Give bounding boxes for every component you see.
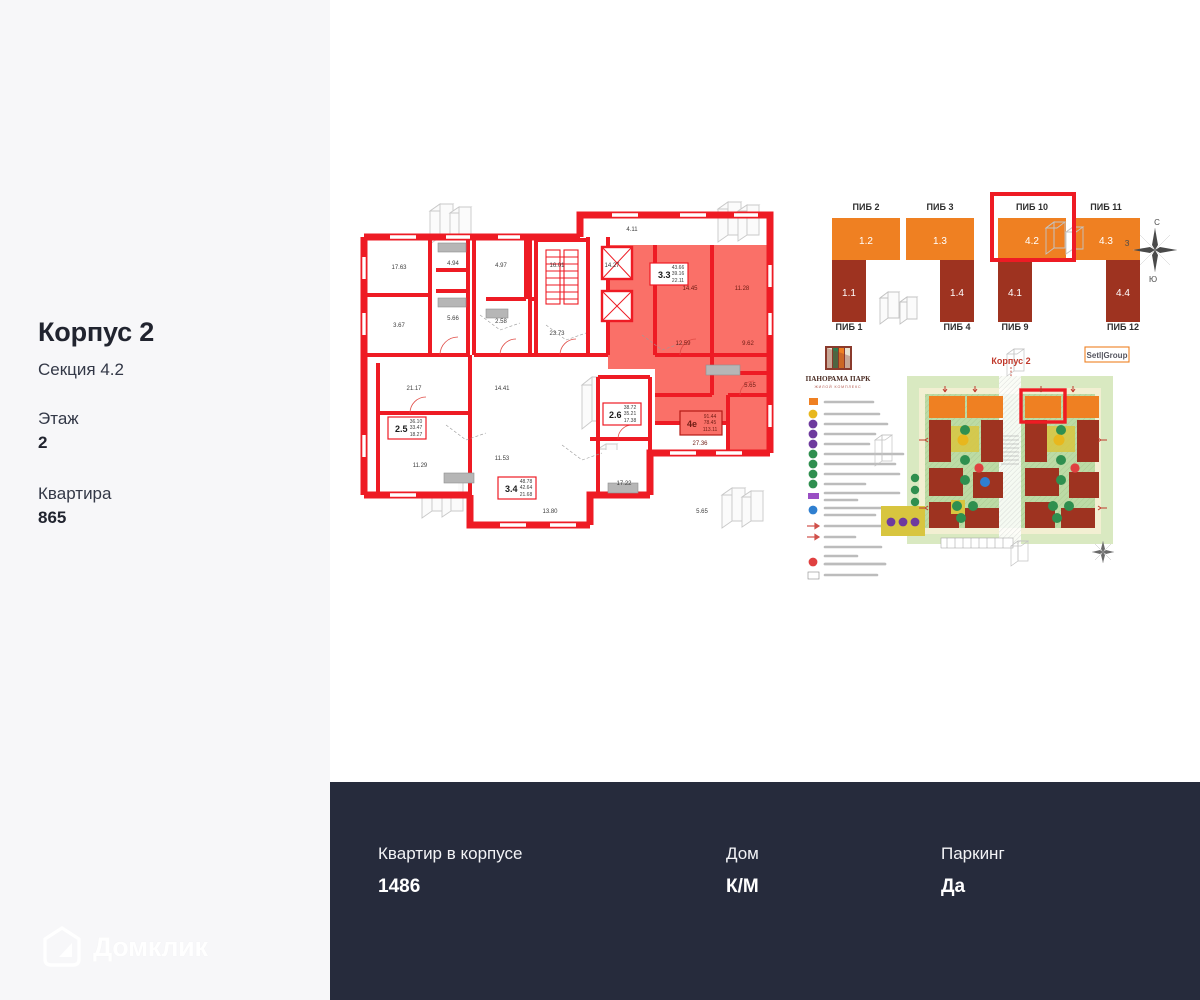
section-subtitle: Секция 4.2: [38, 360, 308, 380]
section-left-block: ПИБ 2 ПИБ 3 1.2 1.3 1.1 1.4 ПИБ 1 ПИБ 4: [832, 202, 974, 330]
footer-value-parking: Да: [941, 876, 1141, 898]
apartment-label: Квартира: [38, 483, 308, 506]
compass-west-label: З: [1125, 239, 1130, 248]
section-bottom-label-pib12: ПИБ 12: [1107, 322, 1139, 330]
svg-text:35.21: 35.21: [624, 411, 637, 417]
domclick-logo-icon: [42, 926, 82, 968]
svg-text:5.65: 5.65: [696, 509, 708, 515]
section-bottom-label-pib9: ПИБ 9: [1002, 322, 1029, 330]
svg-text:23.73: 23.73: [549, 331, 565, 337]
site-korpus-label: Корпус 2: [991, 356, 1030, 366]
svg-text:22.11: 22.11: [672, 278, 684, 284]
site-building-4-1: [1025, 420, 1047, 462]
svg-text:3.67: 3.67: [393, 323, 405, 329]
footer-label-apartments: Квартир в корпусе: [378, 842, 726, 866]
svg-text:14.41: 14.41: [494, 386, 510, 392]
floor-field: Этаж 2: [38, 408, 308, 456]
setl-group-text: Setl|Group: [1087, 351, 1128, 360]
section-label-1-2: 1.2: [859, 236, 873, 247]
floor-plan-drawing: 17.63 4.94 4.97 16.01 14.27 3.67 5.66 2.…: [350, 195, 810, 555]
section-top-label-pib2: ПИБ 2: [853, 202, 880, 212]
section-diagram-drawing: ПИБ 2 ПИБ 3 1.2 1.3 1.1 1.4 ПИБ 1 ПИБ 4: [810, 190, 1180, 330]
section-label-4-1: 4.1: [1008, 288, 1022, 299]
footer-value-house-type: К/М: [726, 876, 941, 898]
svg-text:39.16: 39.16: [672, 271, 685, 277]
footer-stat-apartments: Квартир в корпусе 1486: [378, 842, 726, 898]
sidebar-content: Корпус 2 Секция 4.2 Этаж 2 Квартира 865: [38, 318, 308, 531]
svg-text:2.58: 2.58: [495, 319, 507, 325]
svg-text:13.80: 13.80: [542, 509, 558, 515]
svg-text:42.64: 42.64: [520, 485, 533, 491]
svg-text:27.36: 27.36: [692, 441, 708, 447]
page-title: Корпус 2: [38, 318, 308, 348]
footer-stats-row: Квартир в корпусе 1486 Дом К/М Паркинг Д…: [378, 842, 1141, 898]
svg-text:3.4: 3.4: [505, 484, 518, 494]
section-right-block: ПИБ 10 ПИБ 11 4.2 4.3 4.1 4.4 ПИБ 9 ПИБ …: [992, 194, 1140, 330]
svg-text:2.5: 2.5: [395, 424, 408, 434]
svg-text:11.29: 11.29: [413, 463, 428, 469]
svg-text:78.45: 78.45: [704, 420, 717, 426]
footer-value-apartments: 1486: [378, 876, 726, 898]
svg-text:21.68: 21.68: [520, 492, 533, 498]
compass-north-label: С: [1154, 218, 1160, 227]
svg-text:33.47: 33.47: [410, 425, 423, 431]
svg-text:4.11: 4.11: [626, 227, 638, 233]
svg-text:4.97: 4.97: [495, 263, 507, 269]
section-label-1-4: 1.4: [950, 288, 964, 299]
section-diagram[interactable]: ПИБ 2 ПИБ 3 1.2 1.3 1.1 1.4 ПИБ 1 ПИБ 4: [810, 190, 1180, 330]
section-label-4-3: 4.3: [1099, 236, 1113, 247]
svg-text:4е: 4е: [687, 419, 697, 429]
section-top-label-pib10: ПИБ 10: [1016, 202, 1048, 212]
section-bottom-label-pib4: ПИБ 4: [944, 322, 971, 330]
svg-text:17.22: 17.22: [616, 481, 632, 487]
site-logo-title: ПАНОРАМА ПАРК: [806, 375, 872, 383]
svg-text:4.94: 4.94: [447, 261, 459, 267]
svg-text:9.62: 9.62: [742, 341, 754, 347]
section-label-1-1: 1.1: [842, 288, 856, 299]
site-logo-subtitle: ЖИЛОЙ КОМПЛЕКС: [814, 385, 861, 389]
site-building-4-3: [1063, 396, 1099, 418]
plan-stage: 17.63 4.94 4.97 16.01 14.27 3.67 5.66 2.…: [330, 0, 1200, 782]
section-top-label-pib3: ПИБ 3: [927, 202, 954, 212]
apartment-tag-3-4: 3.4 48.78 42.64 21.68: [498, 477, 536, 499]
svg-text:113.11: 113.11: [703, 427, 718, 433]
svg-text:11.53: 11.53: [495, 456, 510, 462]
site-parking-markers: [887, 518, 920, 527]
svg-text:12.59: 12.59: [675, 341, 691, 347]
apartment-tag-2-6: 2.6 38.72 35.21 17.38: [603, 403, 641, 425]
svg-text:21.17: 21.17: [406, 386, 422, 392]
apartment-field: Квартира 865: [38, 483, 308, 531]
apartment-layout-page: Корпус 2 Секция 4.2 Этаж 2 Квартира 865 …: [0, 0, 1200, 1000]
section-top-label-pib11: ПИБ 11: [1090, 202, 1121, 212]
section-label-4-2: 4.2: [1025, 236, 1039, 247]
compass-south-label: Ю: [1149, 275, 1157, 284]
svg-text:5.65: 5.65: [744, 383, 756, 389]
svg-text:17.38: 17.38: [624, 418, 637, 424]
svg-text:2.6: 2.6: [609, 410, 622, 420]
footer-label-parking: Паркинг: [941, 842, 1141, 866]
footer-stat-parking: Паркинг Да: [941, 842, 1141, 898]
svg-text:3.3: 3.3: [658, 270, 671, 280]
svg-text:17.63: 17.63: [391, 265, 407, 271]
section-bottom-label-pib1: ПИБ 1: [836, 322, 863, 330]
summary-footer: Квартир в корпусе 1486 Дом К/М Паркинг Д…: [330, 782, 1200, 1000]
floor-plan[interactable]: 17.63 4.94 4.97 16.01 14.27 3.67 5.66 2.…: [350, 195, 810, 555]
site-plan[interactable]: ПАНОРАМА ПАРК ЖИЛОЙ КОМПЛЕКС Setl|Group: [795, 340, 1135, 580]
site-building-4-4: [1077, 420, 1099, 462]
svg-text:18.27: 18.27: [410, 432, 423, 438]
section-label-1-3: 1.3: [933, 236, 947, 247]
svg-text:11.28: 11.28: [735, 286, 750, 292]
section-label-4-4: 4.4: [1116, 288, 1130, 299]
domclick-watermark-text: Домклик: [93, 932, 208, 963]
apartment-tag-2-5: 2.5 36.10 33.47 18.27: [388, 417, 426, 439]
svg-text:16.01: 16.01: [549, 263, 565, 269]
apartment-tag-4e-highlighted: 4е 91.44 78.45 113.11: [680, 411, 722, 435]
svg-text:14.45: 14.45: [682, 286, 698, 292]
site-building-4-2: [1025, 396, 1061, 418]
info-sidebar: Корпус 2 Секция 4.2 Этаж 2 Квартира 865 …: [0, 0, 330, 1000]
svg-text:14.27: 14.27: [604, 263, 620, 269]
section-sketch-left: [880, 292, 917, 324]
svg-text:5.66: 5.66: [447, 316, 459, 322]
floor-value: 2: [38, 431, 308, 456]
site-compass-rose: [1092, 541, 1114, 563]
site-plan-drawing: ПАНОРАМА ПАРК ЖИЛОЙ КОМПЛЕКС Setl|Group: [795, 340, 1135, 580]
apartment-tag-3-3: 3.3 43.66 39.16 22.11: [650, 263, 688, 285]
footer-stat-house-type: Дом К/М: [726, 842, 941, 898]
footer-label-house-type: Дом: [726, 842, 941, 866]
apartment-value: 865: [38, 506, 308, 531]
floor-label: Этаж: [38, 408, 308, 431]
domclick-watermark: Домклик: [42, 926, 208, 968]
